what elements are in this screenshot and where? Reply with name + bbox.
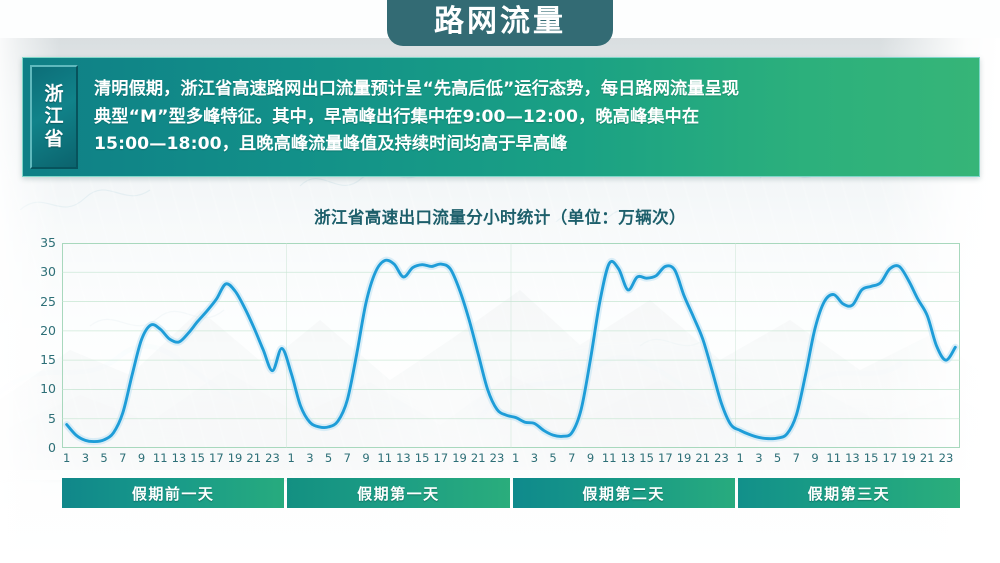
y-tick-10: 10 [22, 383, 56, 396]
chart-card: 浙江省高速出口流量分小时统计（单位：万辆次） 05101520253035 13… [0, 178, 1000, 518]
x-tick-30: 13 [621, 453, 636, 465]
x-tick-31: 15 [639, 453, 654, 465]
province-char-3: 省 [44, 129, 63, 150]
x-tick-5: 11 [153, 453, 168, 465]
x-tick-11: 23 [265, 453, 280, 465]
summary-text-block: 清明假期，浙江省高速路网出口流量预计呈“先高后低”运行态势，每日路网流量呈现 典… [78, 58, 979, 176]
x-tick-27: 7 [568, 453, 575, 465]
plot-area [62, 243, 960, 448]
x-tick-10: 21 [246, 453, 261, 465]
x-tick-16: 9 [362, 453, 369, 465]
province-char-1: 浙 [44, 84, 63, 105]
y-tick-5: 5 [22, 413, 56, 426]
x-tick-19: 15 [415, 453, 430, 465]
x-tick-26: 5 [549, 453, 556, 465]
y-axis-labels: 05101520253035 [16, 243, 56, 448]
x-tick-4: 9 [138, 453, 145, 465]
x-tick-22: 21 [471, 453, 486, 465]
summary-panel: 浙 江 省 清明假期，浙江省高速路网出口流量预计呈“先高后低”运行态势，每日路网… [22, 57, 980, 177]
x-tick-45: 19 [901, 453, 916, 465]
summary-line-2: 典型“M”型多峰特征。其中，早高峰出行集中在9:00—12:00，晚高峰集中在 [94, 104, 965, 132]
x-tick-17: 11 [377, 453, 392, 465]
day-label-1: 假期第一天 [287, 478, 509, 508]
summary-line-3: 15:00—18:00，且晚高峰流量峰值及持续时间均高于早高峰 [94, 131, 965, 159]
x-tick-35: 23 [714, 453, 729, 465]
chart-title: 浙江省高速出口流量分小时统计（单位：万辆次） [0, 204, 1000, 228]
x-tick-43: 15 [864, 453, 879, 465]
y-tick-25: 25 [22, 296, 56, 309]
x-tick-15: 7 [344, 453, 351, 465]
x-tick-46: 21 [920, 453, 935, 465]
x-tick-40: 9 [811, 453, 818, 465]
x-tick-34: 21 [695, 453, 710, 465]
x-tick-1: 3 [82, 453, 89, 465]
x-tick-18: 13 [396, 453, 411, 465]
day-label-0: 假期前一天 [62, 478, 284, 508]
y-tick-30: 30 [22, 266, 56, 279]
x-axis-labels: 1357911131517192123135791113151719212313… [62, 453, 960, 471]
x-tick-6: 13 [172, 453, 187, 465]
title-banner: 路网流量 [387, 0, 613, 46]
x-tick-12: 1 [288, 453, 295, 465]
x-tick-38: 5 [774, 453, 781, 465]
x-tick-13: 3 [306, 453, 313, 465]
x-tick-28: 9 [587, 453, 594, 465]
x-tick-33: 19 [677, 453, 692, 465]
province-badge: 浙 江 省 [30, 65, 78, 169]
x-tick-39: 7 [793, 453, 800, 465]
x-tick-37: 3 [755, 453, 762, 465]
y-tick-35: 35 [22, 237, 56, 250]
line-chart-svg [62, 243, 960, 448]
y-tick-15: 15 [22, 354, 56, 367]
x-tick-36: 1 [737, 453, 744, 465]
x-tick-9: 19 [228, 453, 243, 465]
day-label-2: 假期第二天 [513, 478, 735, 508]
x-tick-7: 15 [190, 453, 205, 465]
day-label-bar-group: 假期前一天 假期第一天 假期第二天 假期第三天 [62, 478, 960, 508]
x-tick-21: 19 [452, 453, 467, 465]
summary-line-1: 清明假期，浙江省高速路网出口流量预计呈“先高后低”运行态势，每日路网流量呈现 [94, 76, 965, 104]
page-title: 路网流量 [434, 7, 566, 46]
x-tick-23: 23 [490, 453, 505, 465]
x-tick-29: 11 [602, 453, 617, 465]
x-tick-0: 1 [63, 453, 70, 465]
x-tick-14: 5 [325, 453, 332, 465]
x-tick-8: 17 [209, 453, 224, 465]
day-label-3: 假期第三天 [738, 478, 960, 508]
x-tick-41: 11 [826, 453, 841, 465]
x-tick-2: 5 [100, 453, 107, 465]
x-tick-24: 1 [512, 453, 519, 465]
x-tick-25: 3 [531, 453, 538, 465]
x-tick-3: 7 [119, 453, 126, 465]
y-tick-0: 0 [22, 442, 56, 455]
province-char-2: 江 [44, 106, 63, 127]
x-tick-44: 17 [883, 453, 898, 465]
x-tick-32: 17 [658, 453, 673, 465]
x-tick-47: 23 [939, 453, 954, 465]
x-tick-42: 13 [845, 453, 860, 465]
y-tick-20: 20 [22, 325, 56, 338]
infographic-root: 路网流量 浙 江 省 清明假期，浙江省高速路网出口流量预计呈“先高后低”运行态势… [0, 0, 1000, 563]
x-tick-20: 17 [434, 453, 449, 465]
